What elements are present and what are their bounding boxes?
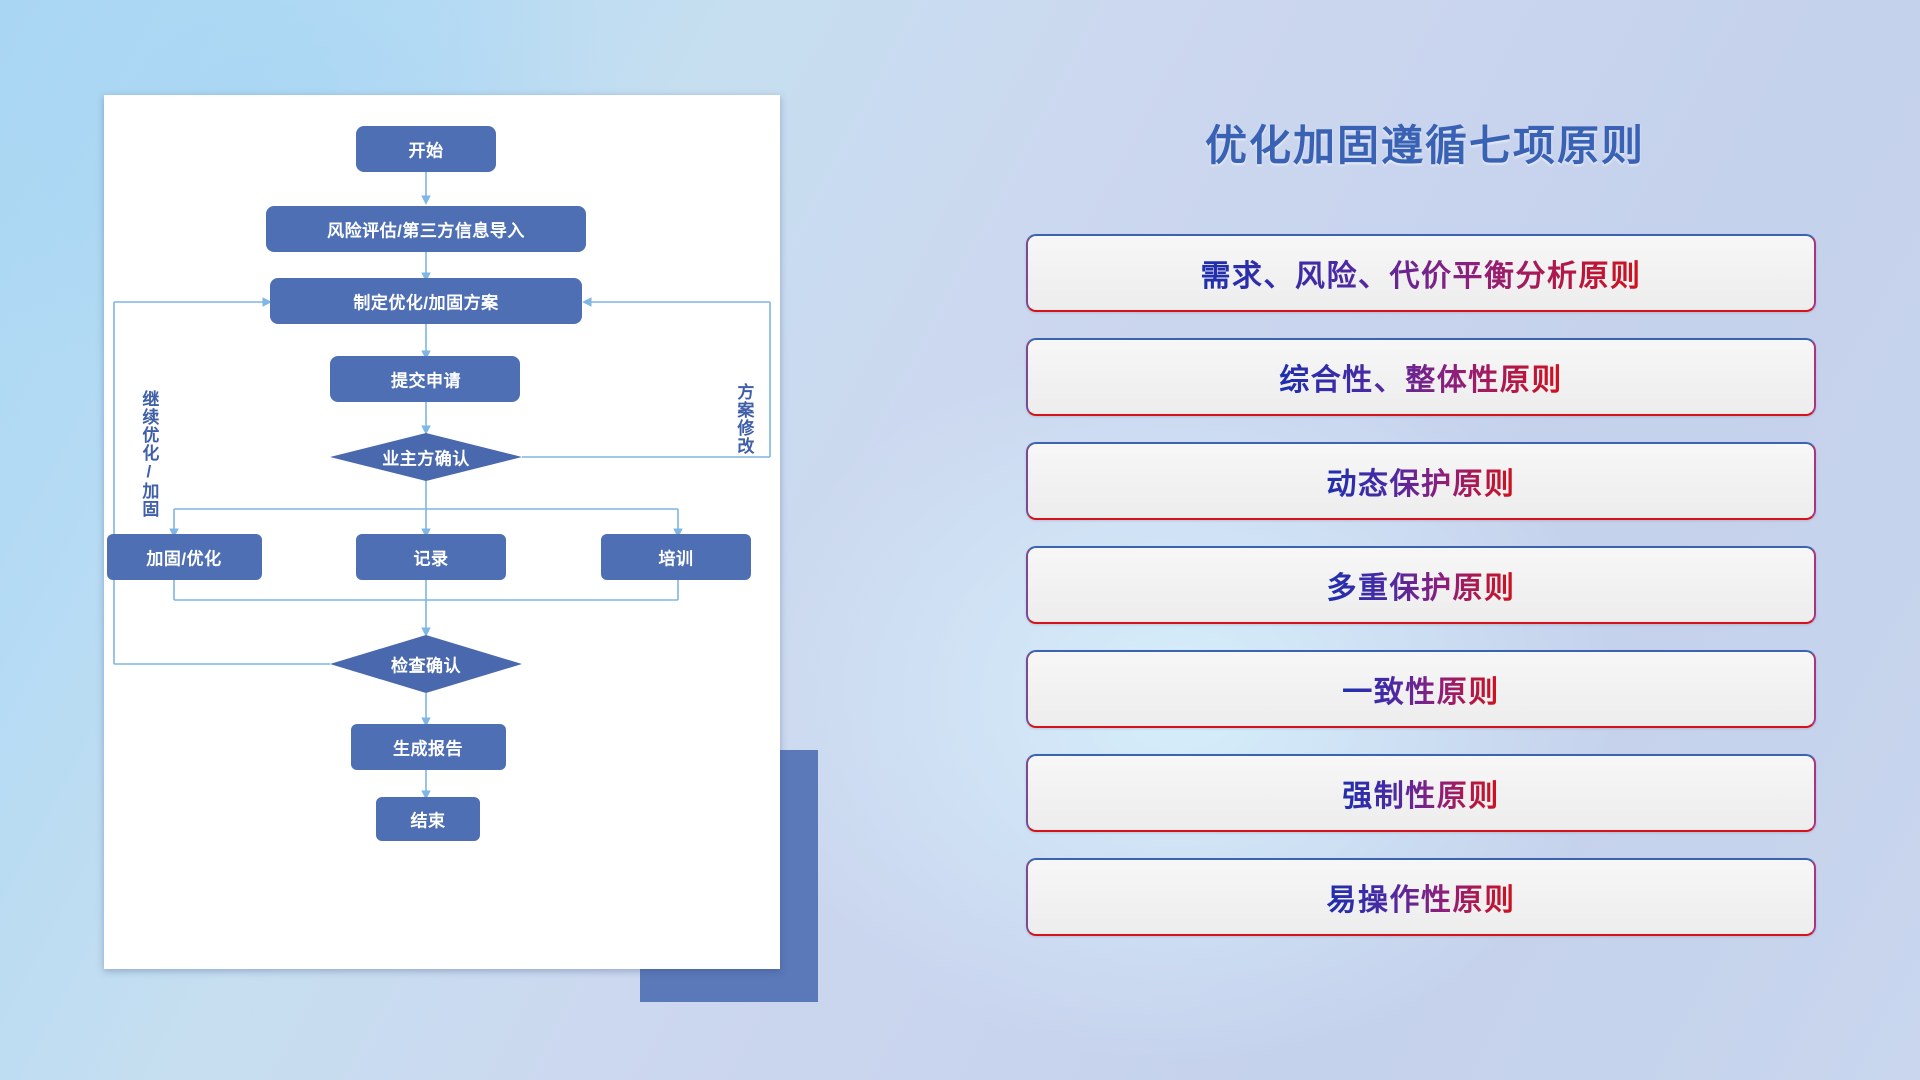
- principle-card[interactable]: 易操作性原则: [1026, 858, 1816, 936]
- flow-node-start: [356, 126, 496, 172]
- flow-node-check-decision: [330, 635, 522, 693]
- flow-node-plan: [270, 278, 582, 324]
- principle-card[interactable]: 需求、风险、代价平衡分析原则: [1026, 234, 1816, 312]
- principle-label: 易操作性原则: [1327, 875, 1516, 919]
- principle-label: 多重保护原则: [1327, 563, 1516, 607]
- flowchart-card: 开始 风险评估/第三方信息导入 制定优化/加固方案 提交申请 业主方确认 加固/…: [104, 95, 780, 969]
- principle-label: 强制性原则: [1342, 771, 1500, 815]
- flowchart-graphic: [104, 95, 780, 969]
- principle-card[interactable]: 动态保护原则: [1026, 442, 1816, 520]
- flow-node-report: [351, 724, 506, 770]
- flow-node-record: [356, 534, 506, 580]
- flow-side-label-plan-revision: 方案修改: [735, 383, 752, 455]
- principles-title: 优化加固遵循七项原则: [1025, 112, 1825, 173]
- slide-canvas: 开始 风险评估/第三方信息导入 制定优化/加固方案 提交申请 业主方确认 加固/…: [0, 0, 1920, 1080]
- flow-node-reinforce: [107, 534, 262, 580]
- flow-node-owner-decision: [330, 433, 522, 481]
- principle-label: 综合性、整体性原则: [1279, 355, 1563, 399]
- principle-label: 动态保护原则: [1327, 459, 1516, 503]
- principle-label: 需求、风险、代价平衡分析原则: [1201, 251, 1642, 295]
- flow-node-risk: [266, 206, 586, 252]
- principles-list: 需求、风险、代价平衡分析原则 综合性、整体性原则 动态保护原则 多重保护原则 一…: [1026, 234, 1816, 962]
- flow-side-label-continue-optimize: 继续优化/加固: [140, 390, 157, 518]
- principle-card[interactable]: 强制性原则: [1026, 754, 1816, 832]
- flow-node-submit: [330, 356, 520, 402]
- principle-label: 一致性原则: [1342, 667, 1500, 711]
- principle-card[interactable]: 多重保护原则: [1026, 546, 1816, 624]
- flow-node-end: [376, 797, 480, 841]
- principle-card[interactable]: 综合性、整体性原则: [1026, 338, 1816, 416]
- principle-card[interactable]: 一致性原则: [1026, 650, 1816, 728]
- flow-node-training: [601, 534, 751, 580]
